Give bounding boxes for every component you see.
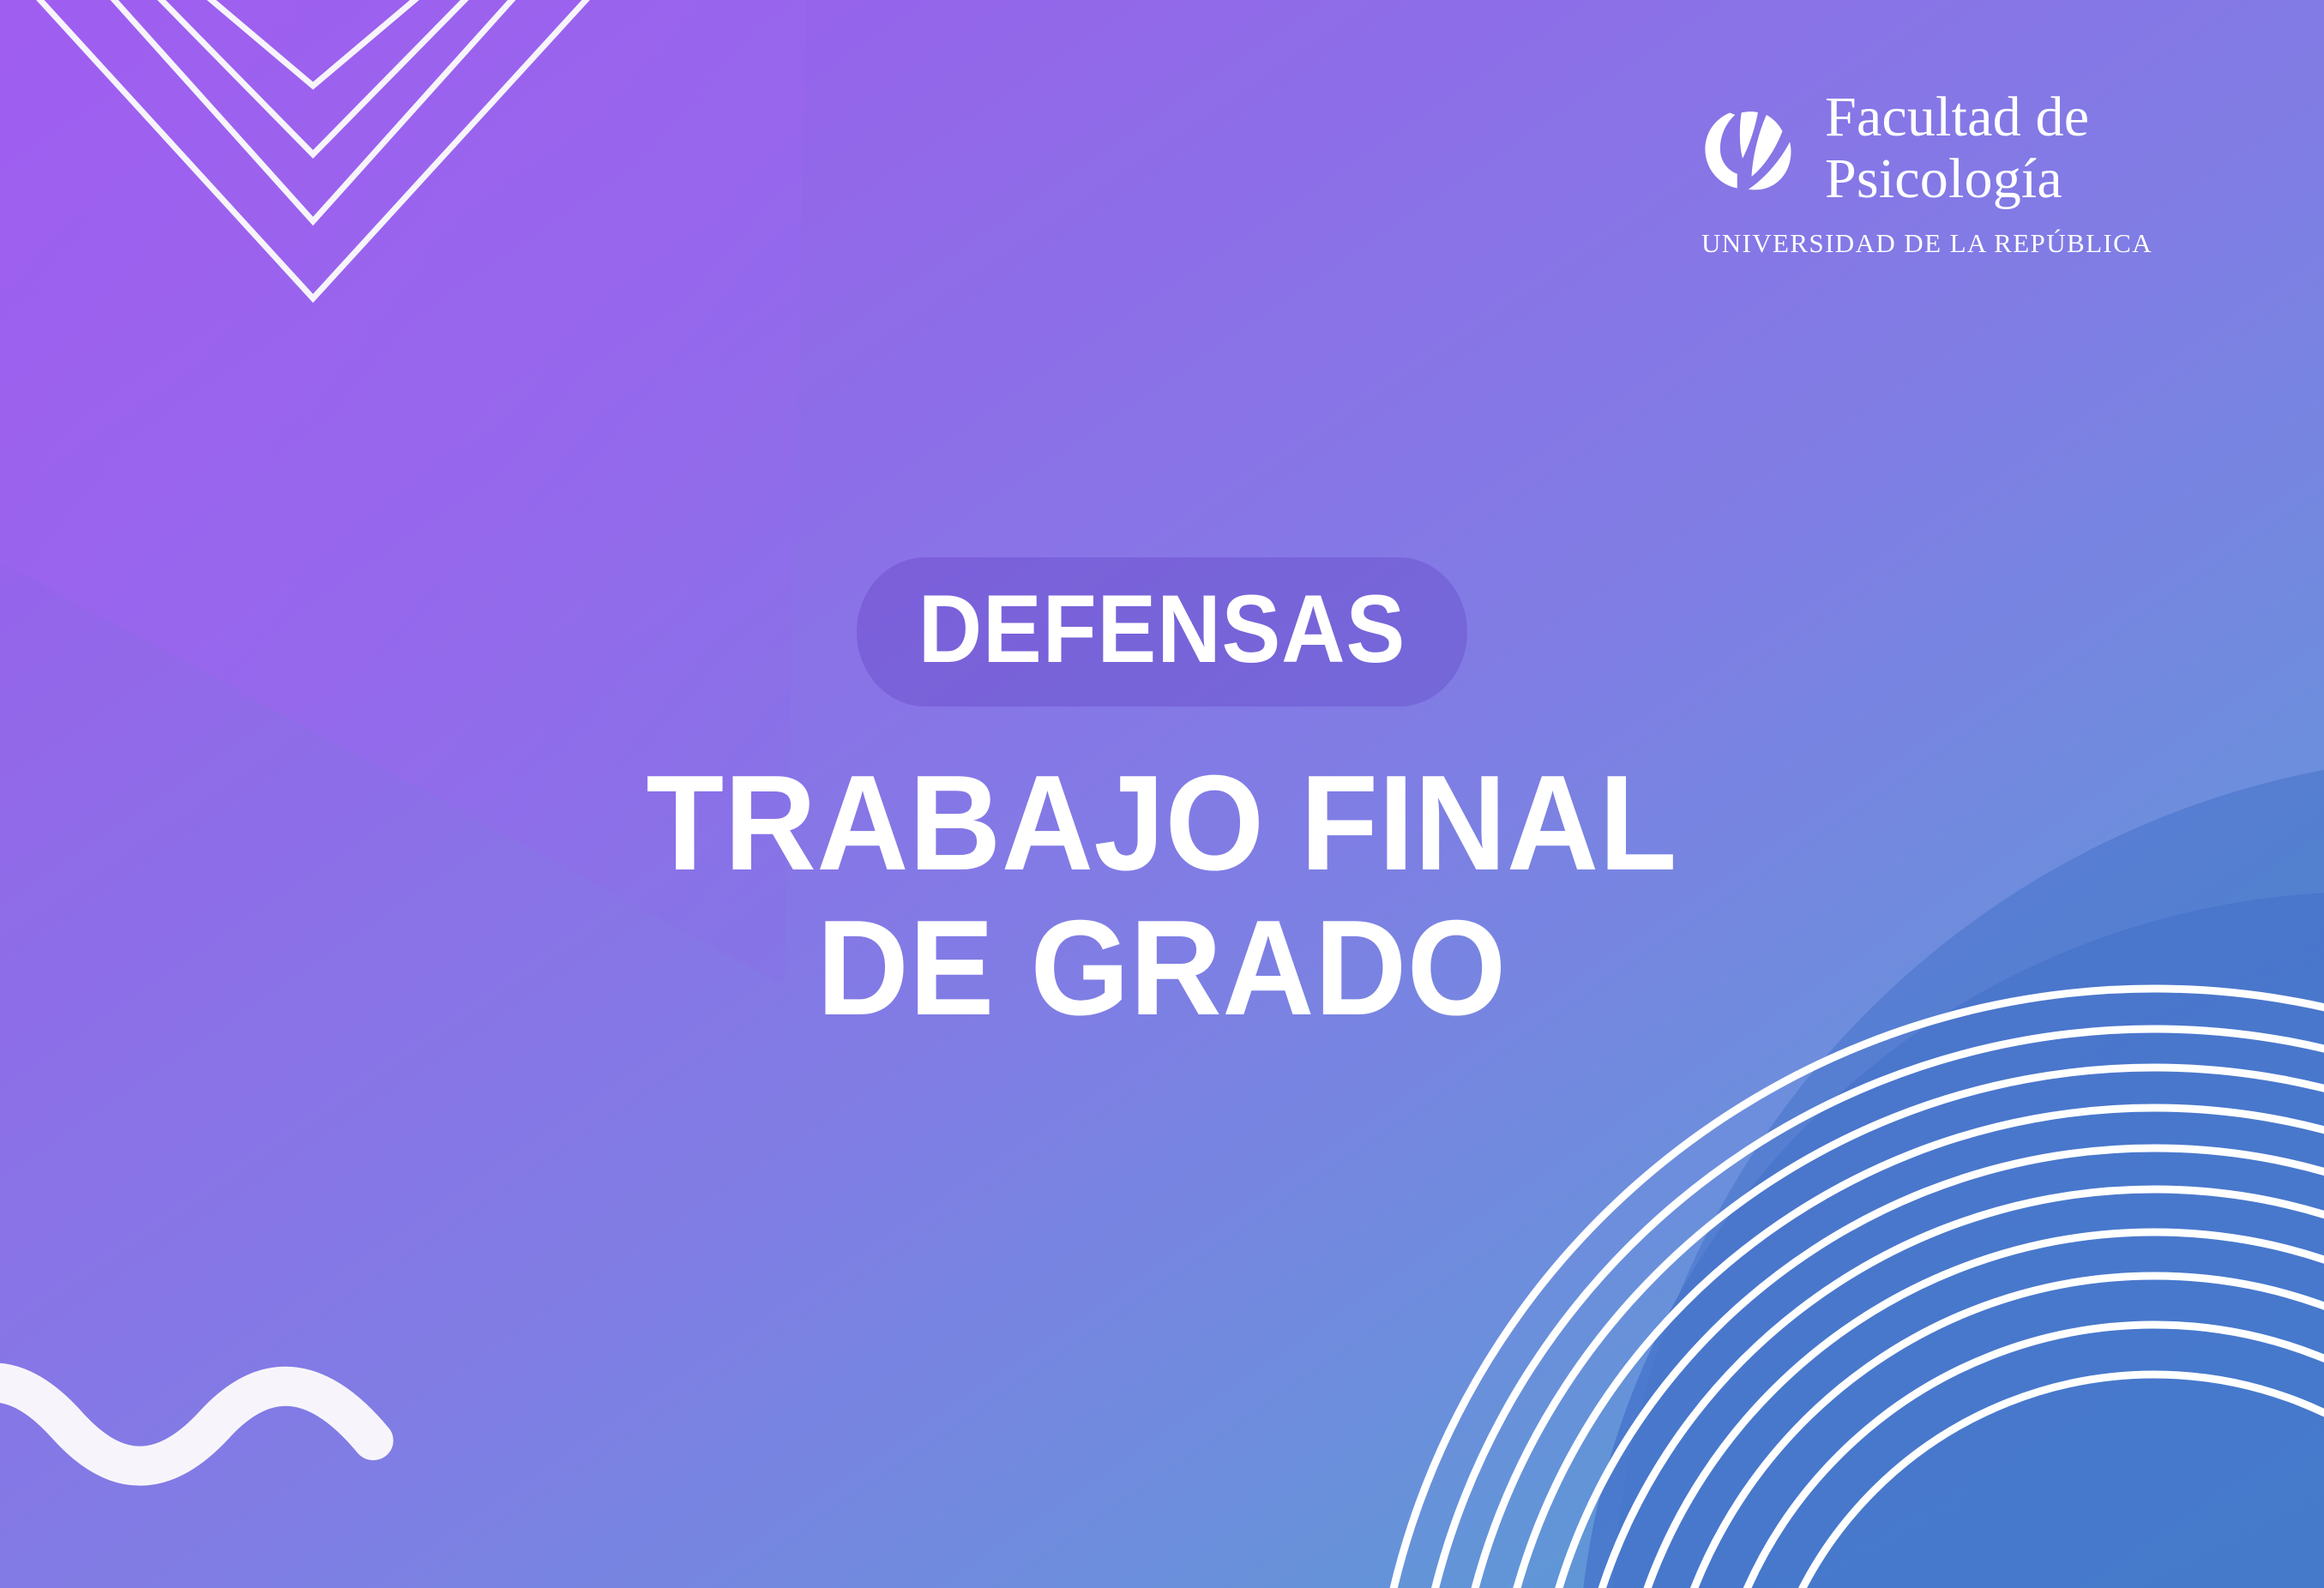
brand-logo-block: Facultad de Psicología UNIVERSIDAD DE LA… — [1696, 89, 2152, 259]
defensas-badge: DEFENSAS — [857, 557, 1467, 707]
university-name: UNIVERSIDAD DE LA REPÚBLICA — [1701, 228, 2152, 259]
brand-logo-row: Facultad de Psicología — [1696, 89, 2089, 208]
brand-wordmark: Facultad de Psicología — [1825, 89, 2089, 208]
faculty-line-1: Facultad de — [1825, 89, 2089, 146]
poster-canvas: Facultad de Psicología UNIVERSIDAD DE LA… — [0, 0, 2324, 1588]
faculty-line-2: Psicología — [1825, 151, 2089, 208]
psi-leaf-circle-icon — [1696, 95, 1803, 202]
